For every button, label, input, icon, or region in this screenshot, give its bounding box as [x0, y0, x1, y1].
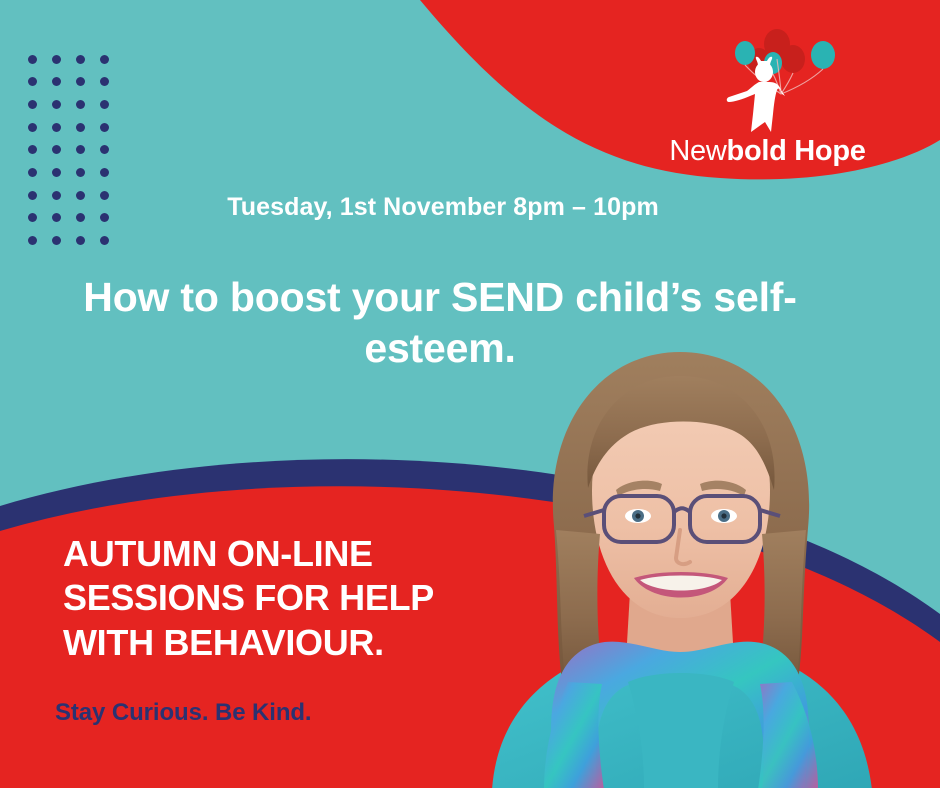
dot — [76, 236, 85, 245]
balloon-teal-1 — [735, 41, 755, 65]
event-headline: How to boost your SEND child’s self-este… — [60, 272, 820, 375]
dot — [28, 77, 37, 86]
brand-tagline: Stay Curious. Be Kind. — [55, 699, 312, 727]
dot — [28, 100, 37, 109]
dot — [28, 236, 37, 245]
dot — [52, 77, 61, 86]
banner-title-line-2: SESSIONS FOR HELP — [63, 576, 533, 620]
pupil-left — [635, 513, 640, 518]
dot — [100, 145, 109, 154]
banner-title-line-1: AUTUMN ON-LINE — [63, 532, 533, 576]
dot — [52, 123, 61, 132]
girl-with-balloons-icon — [715, 28, 845, 138]
pupil-right — [721, 513, 726, 518]
balloon-teal-3 — [811, 41, 835, 69]
brand-logo[interactable]: Newbold Hope — [660, 28, 875, 173]
dot — [100, 77, 109, 86]
dot — [100, 123, 109, 132]
promo-poster: Newbold Hope Tuesday, 1st November 8pm –… — [0, 0, 940, 788]
dot — [52, 236, 61, 245]
dot — [52, 100, 61, 109]
dot — [28, 123, 37, 132]
dot — [100, 55, 109, 64]
dot — [52, 168, 61, 177]
jumper-collar — [628, 673, 734, 788]
dot — [76, 145, 85, 154]
event-datetime: Tuesday, 1st November 8pm – 10pm — [0, 192, 886, 222]
logo-word-bold: bold Hope — [727, 135, 866, 167]
dot — [52, 55, 61, 64]
balloon-red-3 — [781, 45, 805, 73]
dot — [28, 168, 37, 177]
dot — [100, 236, 109, 245]
dot — [76, 55, 85, 64]
dot — [52, 145, 61, 154]
dot — [76, 100, 85, 109]
dot — [76, 123, 85, 132]
logo-wordmark: Newbold Hope — [660, 136, 875, 168]
logo-word-light: New — [669, 135, 726, 167]
banner-title: AUTUMN ON-LINE SESSIONS FOR HELP WITH BE… — [63, 532, 533, 665]
dot — [28, 145, 37, 154]
dot — [28, 55, 37, 64]
dot — [76, 77, 85, 86]
dot — [100, 100, 109, 109]
dot — [76, 168, 85, 177]
banner-title-line-3: WITH BEHAVIOUR. — [63, 621, 533, 665]
dot — [100, 168, 109, 177]
